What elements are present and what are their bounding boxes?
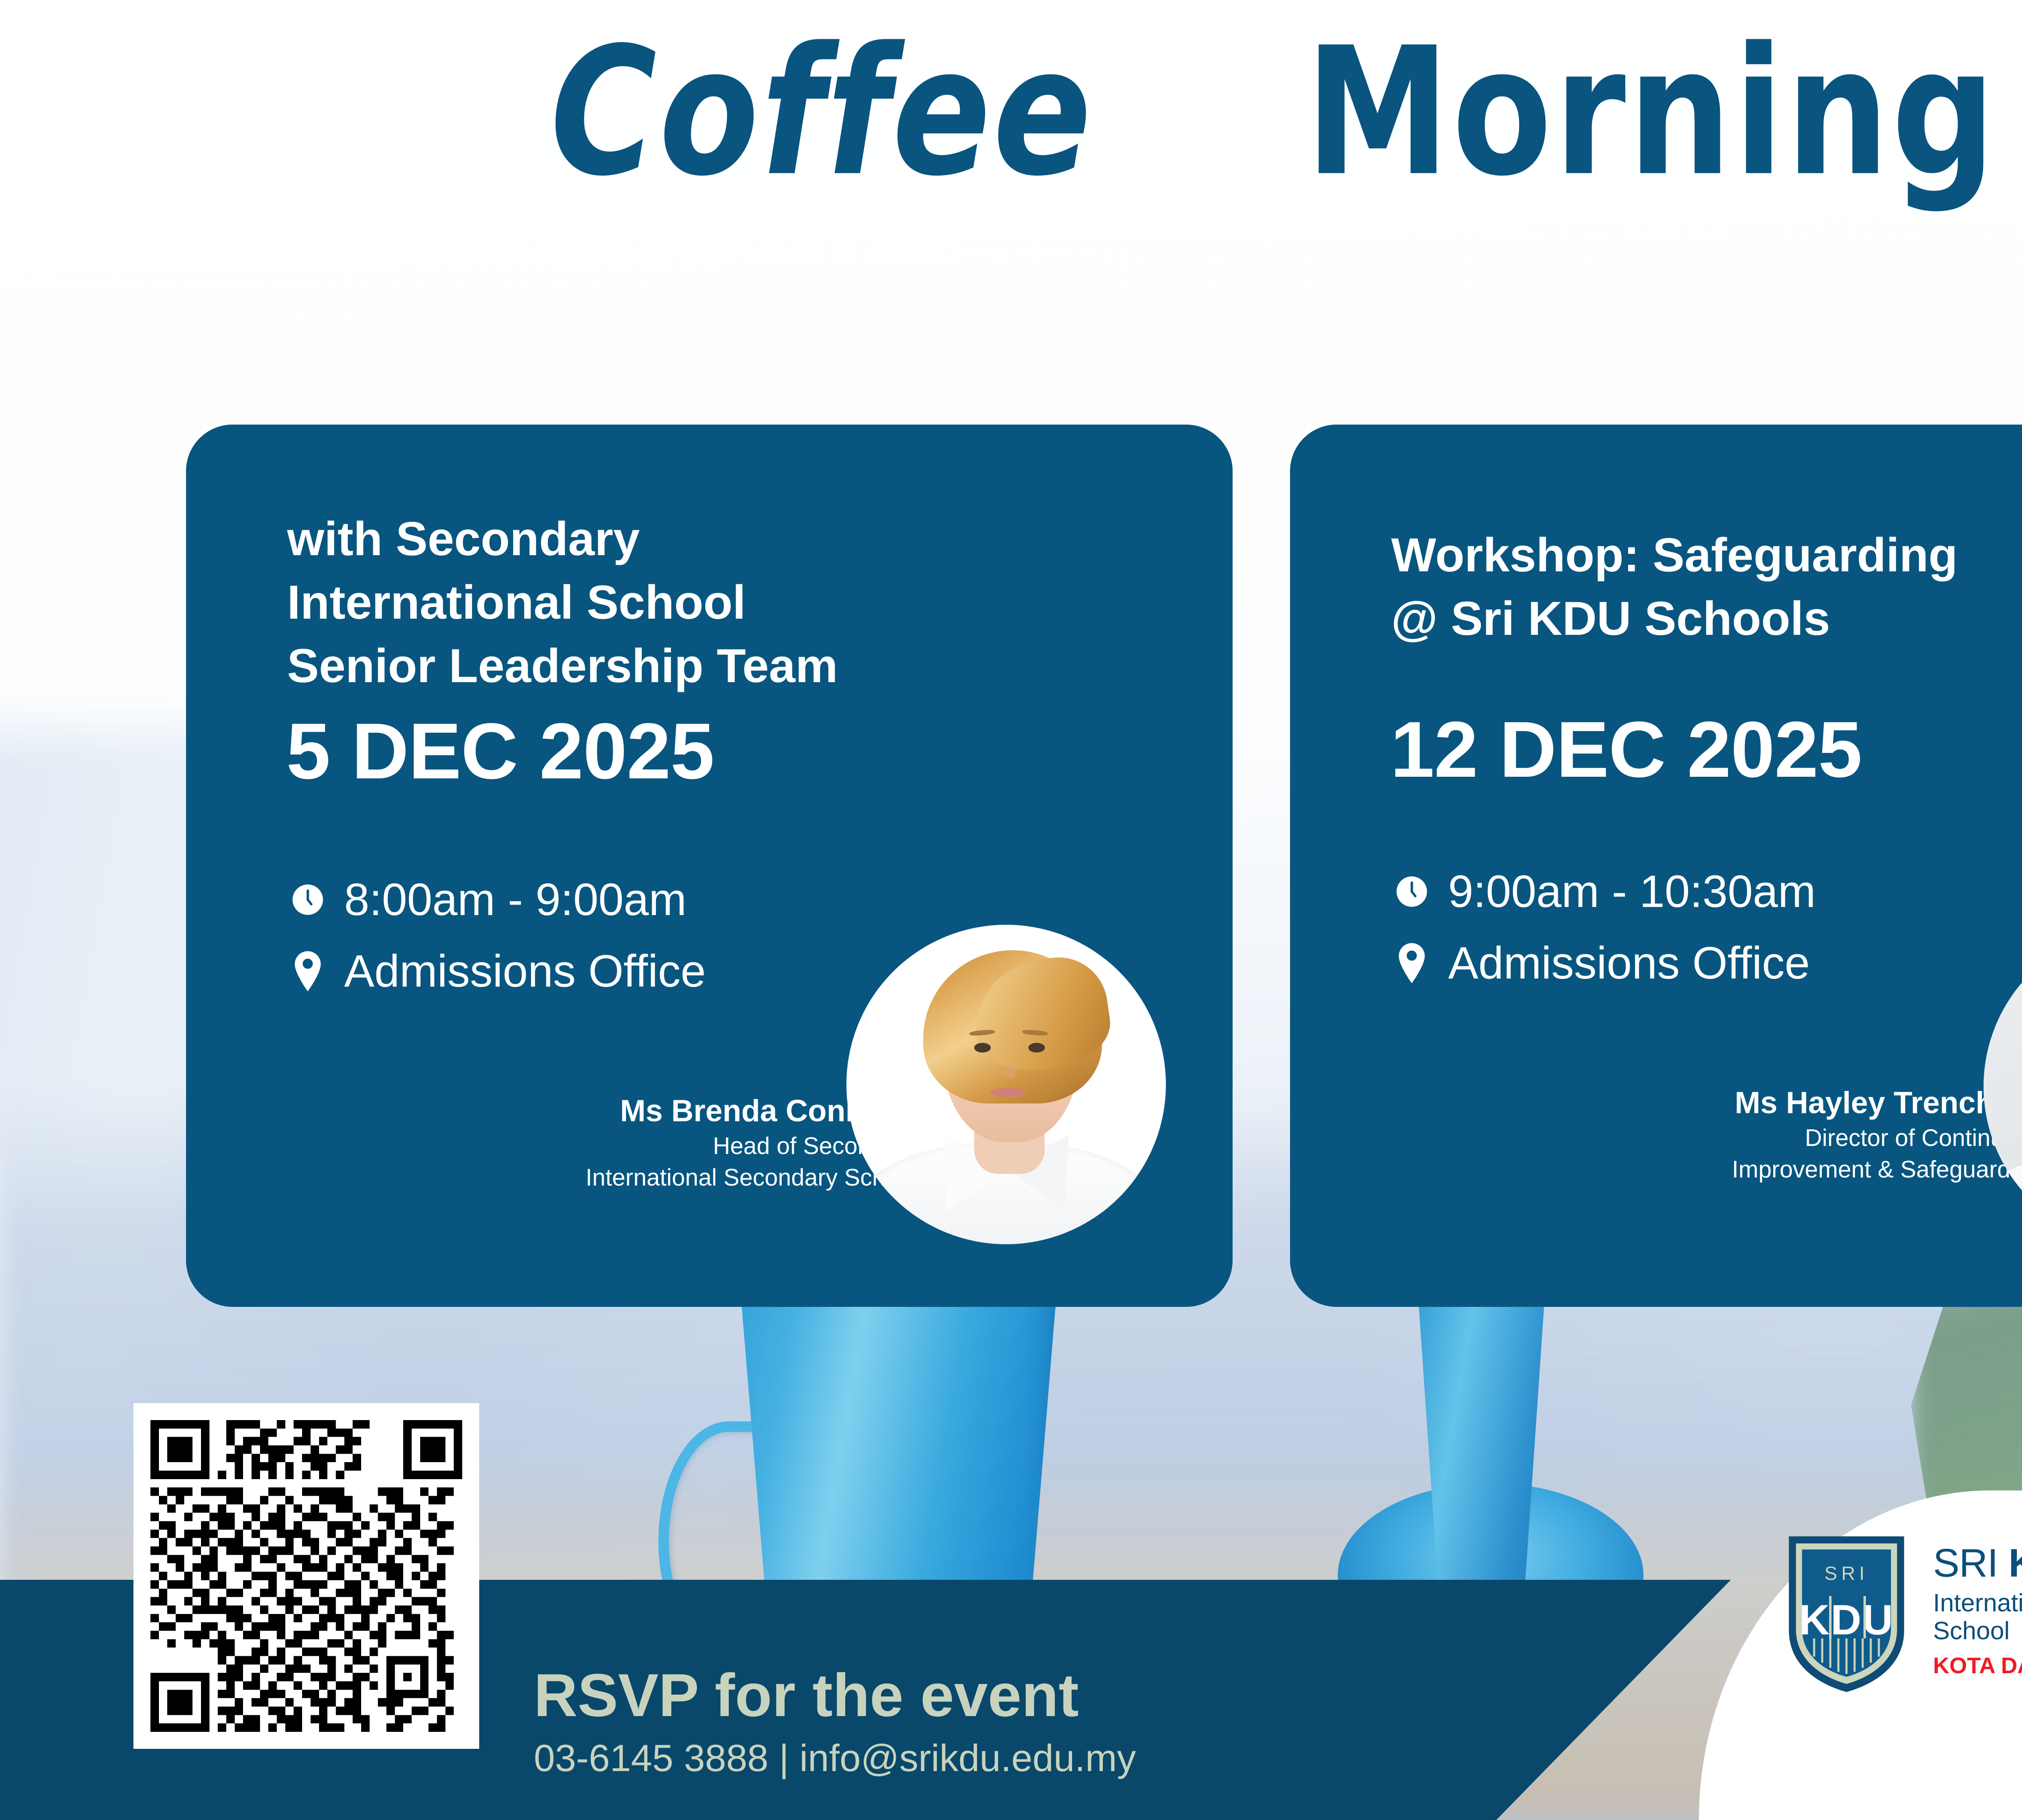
shield-text-sri: SRI [1824, 1563, 1868, 1584]
avatar-mouth [990, 1088, 1026, 1097]
event-1-time: 8:00am - 9:00am [344, 873, 687, 926]
page-title-word-coffee: Coffee [550, 10, 1094, 215]
event-2-location: Admissions Office [1448, 937, 1810, 989]
qr-code-svg [150, 1420, 462, 1732]
rsvp-contact[interactable]: 03-6145 3888 | info@srikdu.edu.my [534, 1739, 1136, 1777]
map-pin-icon [1393, 941, 1430, 986]
event-2-time: 9:00am - 10:30am [1448, 865, 1816, 917]
sri-kdu-shield-icon: SRI KDU [1786, 1533, 1907, 1695]
event-card-2[interactable]: Workshop: Safeguarding @ Sri KDU Schools… [1290, 425, 2022, 1307]
wordmark-kdu: KDU [2009, 1541, 2022, 1585]
avatar [846, 925, 1166, 1244]
wordmark-name: SRI KDU [1933, 1543, 2022, 1583]
rsvp-title: RSVP for the event [534, 1665, 1136, 1725]
clock-icon [289, 877, 326, 922]
event-2-speaker: Ms Hayley Trenchard Director of Continuo… [1732, 1084, 2022, 1186]
avatar-eye-left [974, 1043, 991, 1053]
avatar [1984, 927, 2022, 1246]
event-1-heading: with Secondary International School Seni… [287, 507, 838, 698]
clock-icon [1393, 869, 1430, 914]
avatar-nose [1005, 1065, 1016, 1078]
wordmark-campus: KOTA DAMANSARA [1933, 1654, 2022, 1677]
event-2-meta: 9:00am - 10:30am Admissions Office [1393, 865, 1816, 1008]
page-title-word-morning: Morning [1305, 10, 1998, 215]
shield-text-kdu: KDU [1799, 1596, 1894, 1644]
wordmark-sri: SRI [1933, 1541, 2009, 1585]
logo-group: SRI KDU SRI [1786, 1531, 2022, 1695]
page-title: Coffee Morning [38, 24, 2022, 201]
poster-canvas: Coffee Morning with Secondary Internatio… [0, 0, 2022, 1820]
wordmark-subtitle: International School [1933, 1589, 2022, 1645]
event-2-speaker-name: Ms Hayley Trenchard [1732, 1084, 2022, 1122]
event-2-time-row: 9:00am - 10:30am [1393, 865, 1816, 917]
sri-kdu-wordmark: SRI KDU International School KOTA DAMANS… [1933, 1543, 2022, 1677]
rsvp-qr-code[interactable] [133, 1403, 479, 1749]
event-2-heading: Workshop: Safeguarding @ Sri KDU Schools [1391, 524, 1958, 651]
event-1-time-row: 8:00am - 9:00am [289, 873, 706, 926]
event-1-location-row: Admissions Office [289, 945, 706, 997]
event-2-speaker-role: Director of Continuous Improvement & Saf… [1732, 1122, 2022, 1186]
event-card-1[interactable]: with Secondary International School Seni… [186, 425, 1233, 1307]
event-1-location: Admissions Office [344, 945, 706, 997]
event-2-date: 12 DEC 2025 [1390, 710, 1862, 789]
event-1-date: 5 DEC 2025 [286, 712, 714, 791]
event-2-location-row: Admissions Office [1393, 937, 1816, 989]
rsvp-block: RSVP for the event 03-6145 3888 | info@s… [534, 1665, 1136, 1777]
map-pin-icon [289, 949, 326, 994]
event-1-meta: 8:00am - 9:00am Admissions Office [289, 873, 706, 1017]
